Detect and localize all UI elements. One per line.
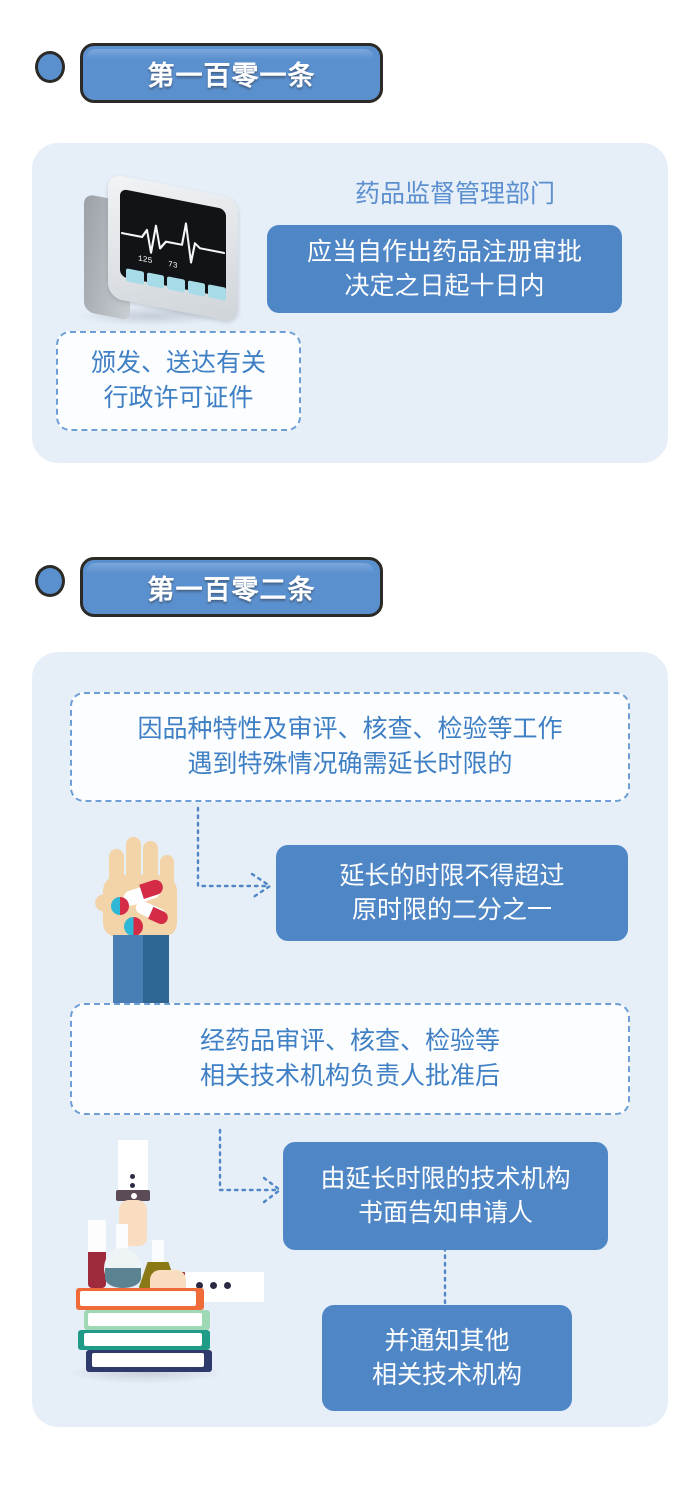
section-101-solid-box: 应当自作出药品注册审批 决定之日起十日内 xyxy=(267,225,622,313)
badge-pill: 第一百零二条 xyxy=(80,557,383,617)
section-101-dashed-box: 颁发、送达有关 行政许可证件 xyxy=(56,331,301,431)
monitor-button xyxy=(188,280,206,296)
lab-books-illustration xyxy=(62,1140,232,1390)
section-badge-article-101: 第一百零一条 xyxy=(35,43,395,113)
connector-line-3 xyxy=(437,1248,453,1310)
flask-liquid xyxy=(105,1268,141,1288)
solid-box-line-1: 应当自作出药品注册审批 xyxy=(307,235,582,270)
box-line-1: 延长的时限不得超过 xyxy=(339,859,564,894)
sleeve-left xyxy=(113,935,143,1007)
book-pages xyxy=(80,1291,196,1306)
dashed-box-line-1: 颁发、送达有关 xyxy=(91,346,266,381)
monitor-button xyxy=(208,284,226,300)
section-badge-article-102: 第一百零二条 xyxy=(35,557,395,627)
pill-icon xyxy=(111,897,129,915)
dashed-box-line-2: 行政许可证件 xyxy=(91,381,266,416)
monitor-button xyxy=(126,268,144,284)
button-dot xyxy=(130,1183,135,1188)
badge-dot-icon xyxy=(35,565,65,597)
connector-arrow-1 xyxy=(190,806,290,906)
monitor-button xyxy=(167,276,185,292)
pill-icon xyxy=(124,917,143,936)
box-line-1: 因品种特性及审评、核查、检验等工作 xyxy=(137,712,562,747)
section-102-box-5: 并通知其他 相关技术机构 xyxy=(322,1305,572,1411)
book-pages xyxy=(88,1313,202,1326)
section-102-box-3: 经药品审评、核查、检验等 相关技术机构负责人批准后 xyxy=(70,1003,630,1115)
box-line-2: 书面告知申请人 xyxy=(320,1196,570,1231)
box-line-2: 相关技术机构 xyxy=(372,1358,522,1393)
badge-label: 第一百零二条 xyxy=(148,568,316,607)
button-dot xyxy=(130,1174,135,1179)
box-line-1: 经药品审评、核查、检验等 xyxy=(200,1024,500,1059)
badge-dot-icon xyxy=(35,51,65,83)
badge-pill: 第一百零一条 xyxy=(80,43,383,103)
monitor-button xyxy=(147,272,165,288)
vitals-monitor-illustration: 125 73 xyxy=(70,182,250,332)
cuff-button-icon xyxy=(131,1193,137,1199)
box-line-2: 遇到特殊情况确需延长时限的 xyxy=(137,747,562,782)
section-102-box-1: 因品种特性及审评、核查、检验等工作 遇到特殊情况确需延长时限的 xyxy=(70,692,630,802)
box-line-1: 由延长时限的技术机构 xyxy=(320,1162,570,1197)
book-pages xyxy=(84,1333,202,1346)
button-dot xyxy=(210,1282,217,1289)
badge-label: 第一百零一条 xyxy=(148,54,316,93)
section-102-box-4: 由延长时限的技术机构 书面告知申请人 xyxy=(283,1142,608,1250)
sleeve-right xyxy=(143,935,169,1007)
book-pages xyxy=(92,1353,204,1367)
button-dot xyxy=(224,1282,231,1289)
box-line-1: 并通知其他 xyxy=(372,1324,522,1359)
box-line-2: 相关技术机构负责人批准后 xyxy=(200,1059,500,1094)
section-101-heading: 药品监督管理部门 xyxy=(330,178,580,211)
section-102-box-2: 延长的时限不得超过 原时限的二分之一 xyxy=(276,845,628,941)
monitor-diastolic-value: 73 xyxy=(168,260,178,271)
hand-with-pills-illustration xyxy=(95,835,185,1010)
infographic-canvas: 第一百零一条 125 73 药品监督管理部门 应当自作出药品注册审批 决定之日起… xyxy=(0,0,700,1488)
solid-box-line-2: 决定之日起十日内 xyxy=(307,269,582,304)
box-line-2: 原时限的二分之一 xyxy=(339,893,564,928)
